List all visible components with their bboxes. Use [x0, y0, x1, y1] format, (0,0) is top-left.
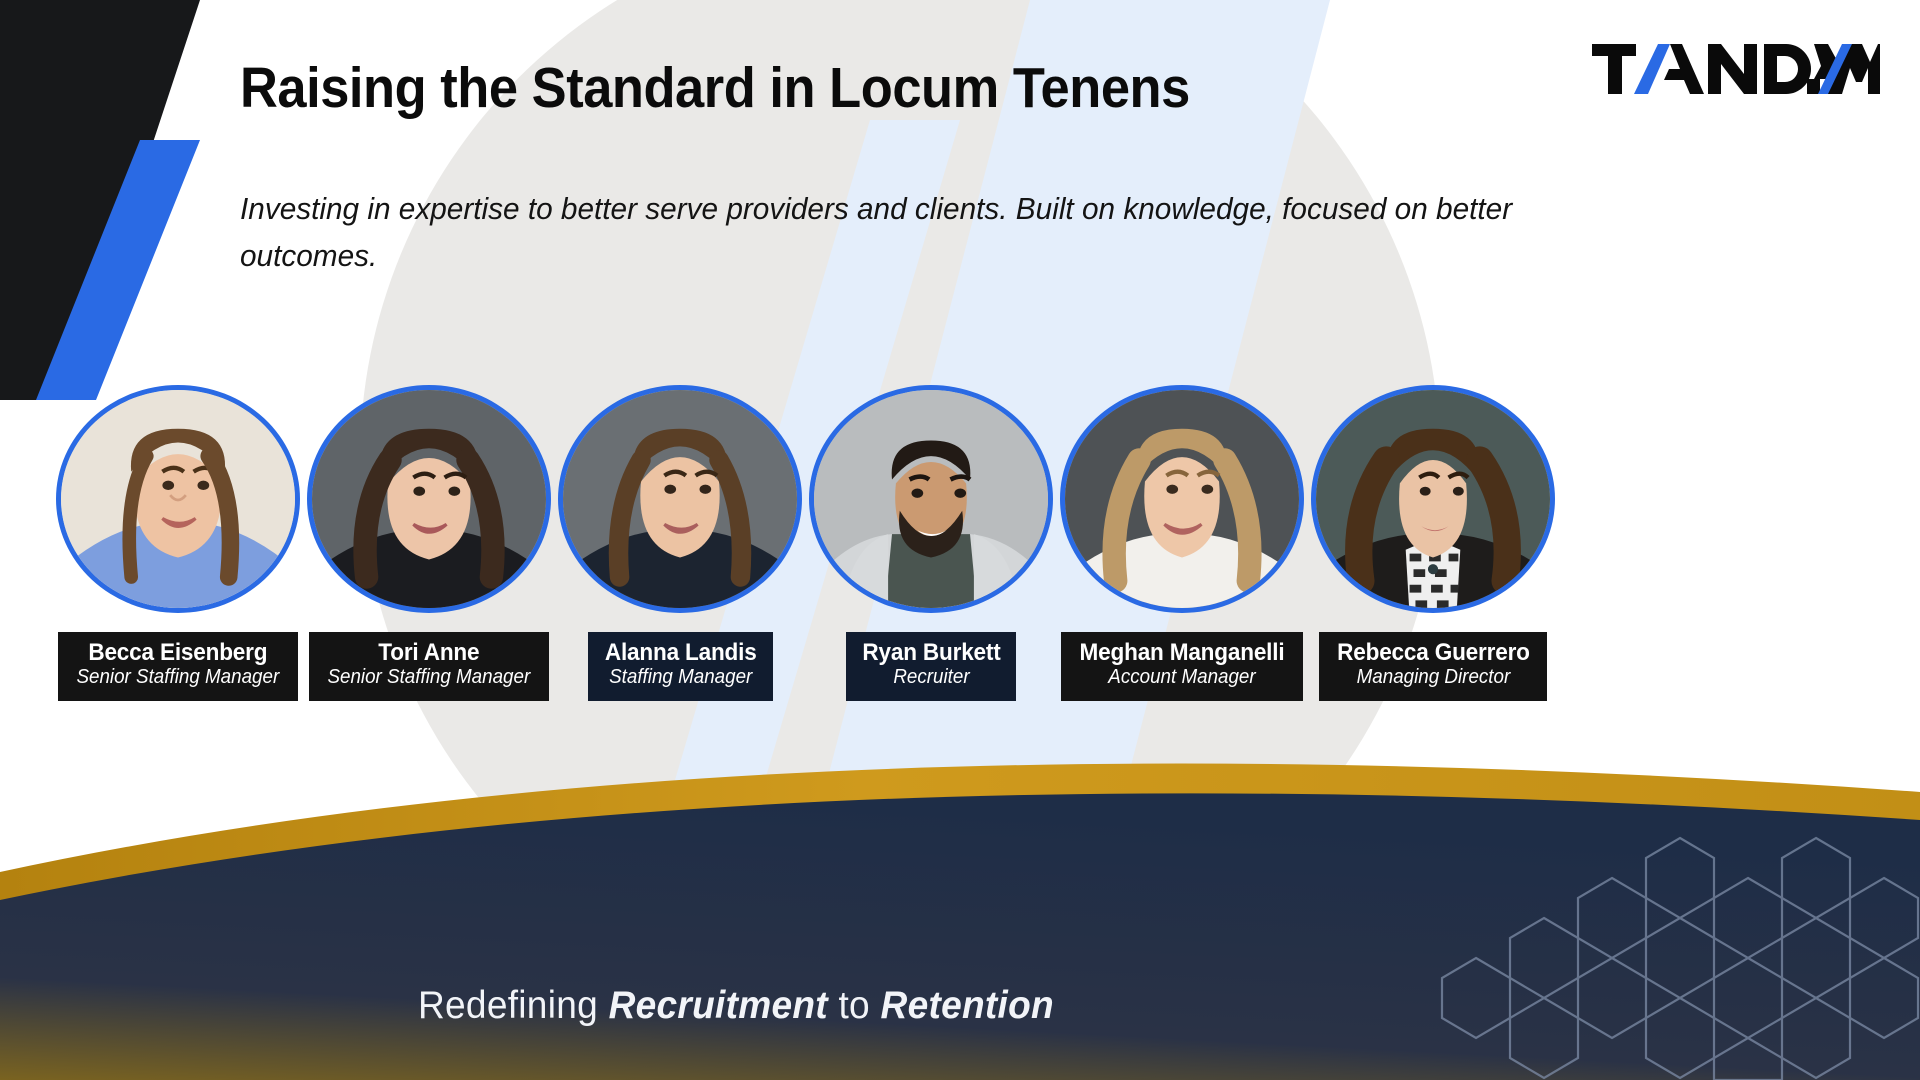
headshot-photo	[61, 390, 295, 608]
member-role: Managing Director	[1337, 666, 1530, 690]
headshot-photo	[814, 390, 1048, 608]
avatar	[809, 385, 1053, 613]
member-name: Alanna Landis	[604, 639, 756, 666]
team-strip: Becca Eisenberg Senior Staffing Manager	[0, 385, 1920, 685]
member-name: Rebecca Guerrero	[1337, 639, 1530, 666]
team-member: Tori Anne Senior Staffing Manager	[307, 385, 551, 613]
avatar	[1060, 385, 1304, 613]
name-plate: Tori Anne Senior Staffing Manager	[309, 632, 549, 701]
member-name: Meghan Manganelli	[1080, 639, 1285, 666]
headshot-photo	[563, 390, 797, 608]
slide-canvas: Raising the Standard in Locum Tenens Inv…	[0, 0, 1920, 1080]
name-plate: Alanna Landis Staffing Manager	[588, 632, 773, 701]
member-name: Ryan Burkett	[862, 639, 1000, 666]
avatar	[56, 385, 300, 613]
name-plate: Meghan Manganelli Account Manager	[1061, 632, 1303, 701]
member-role: Senior Staffing Manager	[327, 666, 530, 690]
team-member: Ryan Burkett Recruiter	[809, 385, 1053, 613]
bottom-banner-graphic	[0, 750, 1920, 1080]
tandym-logo[interactable]	[1590, 38, 1880, 100]
member-role: Account Manager	[1080, 666, 1285, 690]
member-name: Becca Eisenberg	[76, 639, 279, 666]
avatar	[1311, 385, 1555, 613]
member-role: Senior Staffing Manager	[76, 666, 279, 690]
name-plate: Rebecca Guerrero Managing Director	[1319, 632, 1548, 701]
banner-emph1: Recruitment	[609, 984, 828, 1027]
banner-tagline: Redefining Recruitment to Retention	[418, 984, 1054, 1028]
avatar	[307, 385, 551, 613]
member-role: Recruiter	[862, 666, 1000, 690]
team-member: Alanna Landis Staffing Manager	[558, 385, 802, 613]
page-subtitle: Investing in expertise to better serve p…	[240, 186, 1613, 279]
team-member: Meghan Manganelli Account Manager	[1060, 385, 1304, 613]
banner-part1: Redefining	[418, 984, 609, 1027]
banner-emph2: Retention	[881, 984, 1054, 1027]
name-plate: Becca Eisenberg Senior Staffing Manager	[58, 632, 298, 701]
headshot-photo	[1065, 390, 1299, 608]
member-role: Staffing Manager	[604, 666, 756, 690]
headshot-photo	[312, 390, 546, 608]
corner-wedge-graphic	[0, 0, 260, 410]
name-plate: Ryan Burkett Recruiter	[846, 632, 1017, 701]
team-member: Rebecca Guerrero Managing Director	[1311, 385, 1555, 613]
team-member: Becca Eisenberg Senior Staffing Manager	[56, 385, 300, 613]
member-name: Tori Anne	[327, 639, 530, 666]
page-title: Raising the Standard in Locum Tenens	[240, 58, 1399, 118]
avatar	[558, 385, 802, 613]
headshot-photo	[1316, 390, 1550, 608]
banner-part2: to	[828, 984, 881, 1027]
